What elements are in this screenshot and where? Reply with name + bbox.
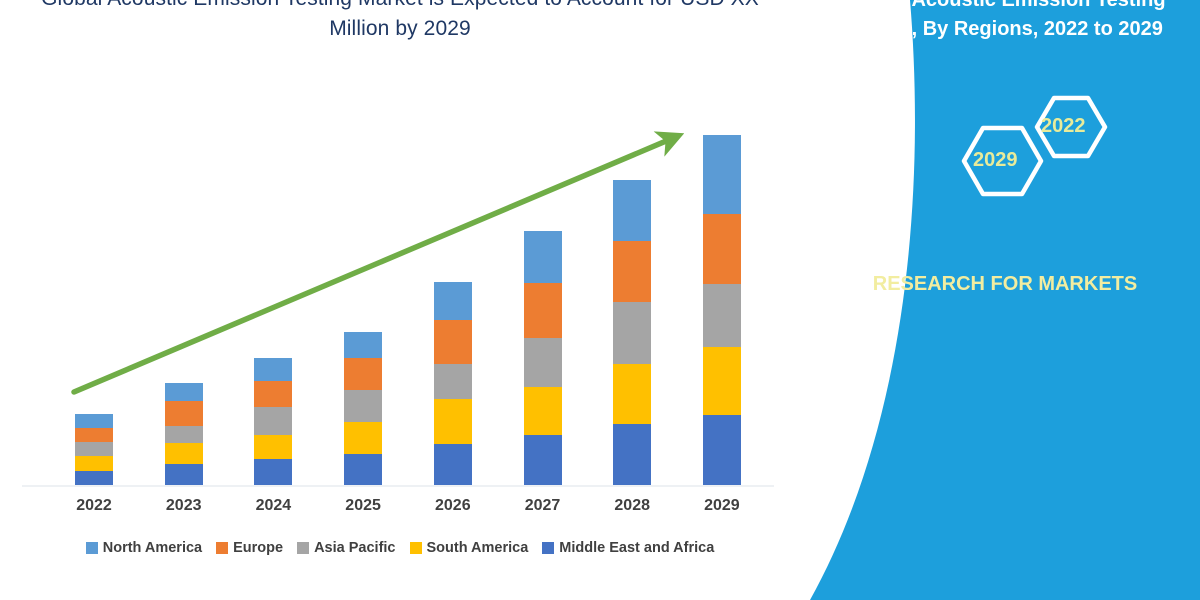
bar-segment — [434, 399, 472, 444]
bar-segment — [524, 387, 562, 435]
legend-item-middle-east-and-africa[interactable]: Middle East and Africa — [542, 540, 714, 556]
bar-segment — [524, 338, 562, 387]
legend-item-asia-pacific[interactable]: Asia Pacific — [297, 540, 395, 556]
bar-segment — [434, 364, 472, 400]
bar-2029 — [703, 135, 741, 485]
axis-baseline — [22, 485, 774, 487]
bar-segment — [344, 454, 382, 485]
x-axis-tick-2022: 2022 — [54, 497, 134, 515]
bar-segment — [613, 241, 651, 302]
legend-swatch-icon — [542, 542, 554, 554]
bar-segment — [703, 347, 741, 414]
bar-segment — [344, 422, 382, 455]
bar-segment — [703, 214, 741, 284]
bar-segment — [434, 282, 472, 320]
bar-segment — [613, 364, 651, 424]
legend-item-south-america[interactable]: South America — [410, 540, 529, 556]
bar-2027 — [524, 231, 562, 485]
bar-segment — [524, 231, 562, 283]
bar-2022 — [75, 414, 113, 485]
bar-2026 — [434, 282, 472, 485]
legend-swatch-icon — [216, 542, 228, 554]
brand-name: RESEARCH FOR MARKETS — [810, 270, 1200, 299]
legend-label: Asia Pacific — [314, 540, 395, 556]
bar-segment — [75, 428, 113, 442]
x-axis-tick-2027: 2027 — [503, 497, 583, 515]
bar-segment — [613, 302, 651, 363]
bar-segment — [165, 464, 203, 485]
legend-swatch-icon — [297, 542, 309, 554]
legend-item-north-america[interactable]: North America — [86, 540, 202, 556]
legend-label: Middle East and Africa — [559, 540, 714, 556]
hexagon-group: 2022 2029 — [920, 85, 1170, 225]
bar-segment — [703, 284, 741, 347]
legend-label: North America — [103, 540, 202, 556]
legend-swatch-icon — [86, 542, 98, 554]
bar-2028 — [613, 180, 651, 485]
legend-label: Europe — [233, 540, 283, 556]
brand-panel: Global Acoustic Emission Testing Market,… — [790, 0, 1200, 600]
x-axis-tick-2023: 2023 — [144, 497, 224, 515]
bar-segment — [254, 358, 292, 380]
infographic-root: Global Acoustic Emission Testing Market … — [0, 0, 1200, 600]
stacked-bar-chart: 20222023202420252026202720282029 — [0, 0, 800, 600]
x-axis-tick-2025: 2025 — [323, 497, 403, 515]
chart-panel: Global Acoustic Emission Testing Market … — [0, 0, 800, 600]
bar-segment — [703, 415, 741, 485]
hexagon-icons — [920, 85, 1170, 225]
bar-2025 — [344, 332, 382, 485]
bar-2024 — [254, 358, 292, 485]
x-axis-tick-2028: 2028 — [592, 497, 672, 515]
bar-segment — [344, 358, 382, 390]
bar-2023 — [165, 383, 203, 485]
bar-segment — [254, 459, 292, 485]
bar-segment — [613, 180, 651, 241]
bar-segment — [434, 320, 472, 364]
chart-legend: North AmericaEuropeAsia PacificSouth Ame… — [20, 540, 780, 556]
bar-segment — [75, 456, 113, 470]
bar-segment — [254, 407, 292, 435]
x-axis-tick-2024: 2024 — [233, 497, 313, 515]
legend-label: South America — [427, 540, 529, 556]
hexagon-right-label: 2022 — [1041, 115, 1086, 138]
bar-segment — [254, 435, 292, 459]
bar-segment — [165, 426, 203, 443]
bar-segment — [703, 135, 741, 214]
legend-item-europe[interactable]: Europe — [216, 540, 283, 556]
bar-segment — [524, 435, 562, 485]
bar-segment — [434, 444, 472, 485]
bar-segment — [344, 332, 382, 359]
bar-segment — [254, 381, 292, 408]
bar-segment — [524, 283, 562, 338]
brand-panel-title: Global Acoustic Emission Testing Market,… — [810, 0, 1200, 44]
legend-swatch-icon — [410, 542, 422, 554]
bar-segment — [165, 443, 203, 463]
bar-segment — [165, 401, 203, 425]
bar-segment — [75, 442, 113, 456]
hexagon-left-label: 2029 — [973, 149, 1018, 172]
x-axis-tick-2026: 2026 — [413, 497, 493, 515]
bar-segment — [75, 414, 113, 428]
bar-segment — [344, 390, 382, 422]
bar-segment — [75, 471, 113, 485]
bar-segment — [613, 424, 651, 485]
x-axis-tick-2029: 2029 — [682, 497, 762, 515]
bar-segment — [165, 383, 203, 401]
